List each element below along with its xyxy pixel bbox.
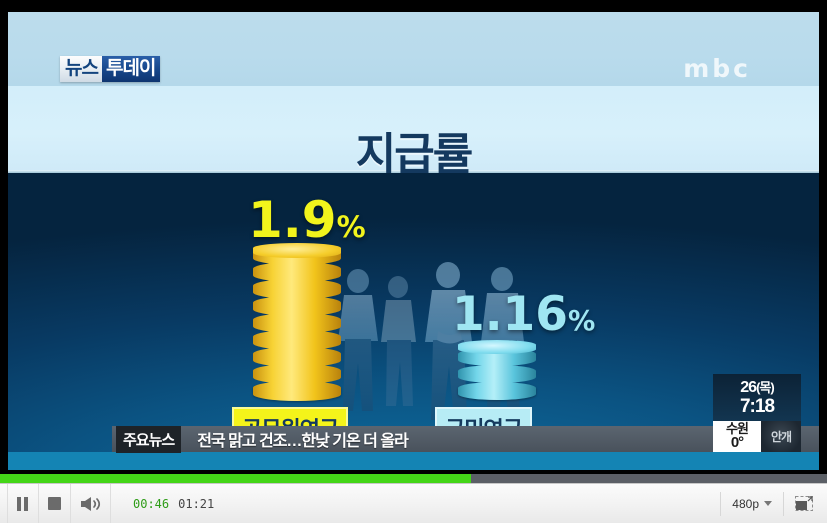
lower-third-band [8, 452, 819, 470]
program-logo: 뉴스 투데이 [60, 56, 160, 82]
weather-date-row: 26(목) [713, 374, 801, 397]
weather-detail-row: 수원 0° 안개 [713, 421, 801, 452]
bar-coin-stack-national-pension [458, 340, 536, 402]
mbc-logo-watermark: mbc [683, 54, 751, 83]
fullscreen-button[interactable] [783, 492, 827, 516]
duration-time: 01:21 [178, 497, 214, 511]
stop-icon [48, 497, 61, 510]
volume-button[interactable] [71, 484, 111, 523]
stop-button[interactable] [39, 484, 71, 523]
video-stage[interactable]: mbc 뉴스 투데이 지급률 [0, 0, 827, 474]
value-number-public-pension: 1.9 [248, 191, 337, 249]
weather-date: 26 [740, 379, 756, 396]
value-label-national-pension: 1.16% [452, 291, 595, 338]
pause-icon [17, 497, 29, 511]
chart-area: 1.9% 1.16% 공무원연금 국민연금 주요뉴스 전국 맑고 건조…한낮 기… [8, 173, 819, 470]
weather-temperature: 0° [713, 436, 761, 450]
player-control-bar: 00:46 01:21 480p [0, 483, 827, 523]
weather-clock-widget: 26(목) 7:18 수원 0° 안개 [713, 374, 801, 452]
video-player: mbc 뉴스 투데이 지급률 [0, 0, 827, 523]
program-logo-today: 투데이 [102, 56, 160, 82]
chevron-down-icon [764, 501, 772, 506]
current-time: 00:46 [133, 497, 169, 511]
value-unit-national-pension: % [568, 306, 595, 337]
ticker-category: 주요뉴스 [116, 426, 181, 453]
weather-city-block: 수원 0° [713, 421, 761, 452]
value-number-national-pension: 1.16 [452, 287, 568, 342]
seek-bar-progress [0, 474, 471, 483]
ticker-headline: 전국 맑고 건조…한낮 기온 더 올라 [197, 427, 408, 451]
bar-coin-stack-public-pension [253, 243, 341, 401]
time-display: 00:46 01:21 [133, 497, 214, 511]
clock-time: 7:18 [713, 397, 801, 417]
value-label-public-pension: 1.9% [248, 195, 366, 245]
weather-weekday: (목) [756, 380, 774, 395]
pause-button[interactable] [7, 484, 39, 523]
program-logo-news: 뉴스 [60, 56, 102, 82]
volume-icon [80, 496, 102, 512]
value-unit-public-pension: % [337, 210, 366, 244]
seek-bar[interactable] [0, 474, 827, 483]
fullscreen-icon [795, 496, 813, 511]
quality-selector[interactable]: 480p [720, 492, 783, 516]
weather-condition: 안개 [761, 421, 801, 452]
video-frame: mbc 뉴스 투데이 지급률 [8, 12, 819, 470]
quality-label: 480p [732, 497, 759, 511]
